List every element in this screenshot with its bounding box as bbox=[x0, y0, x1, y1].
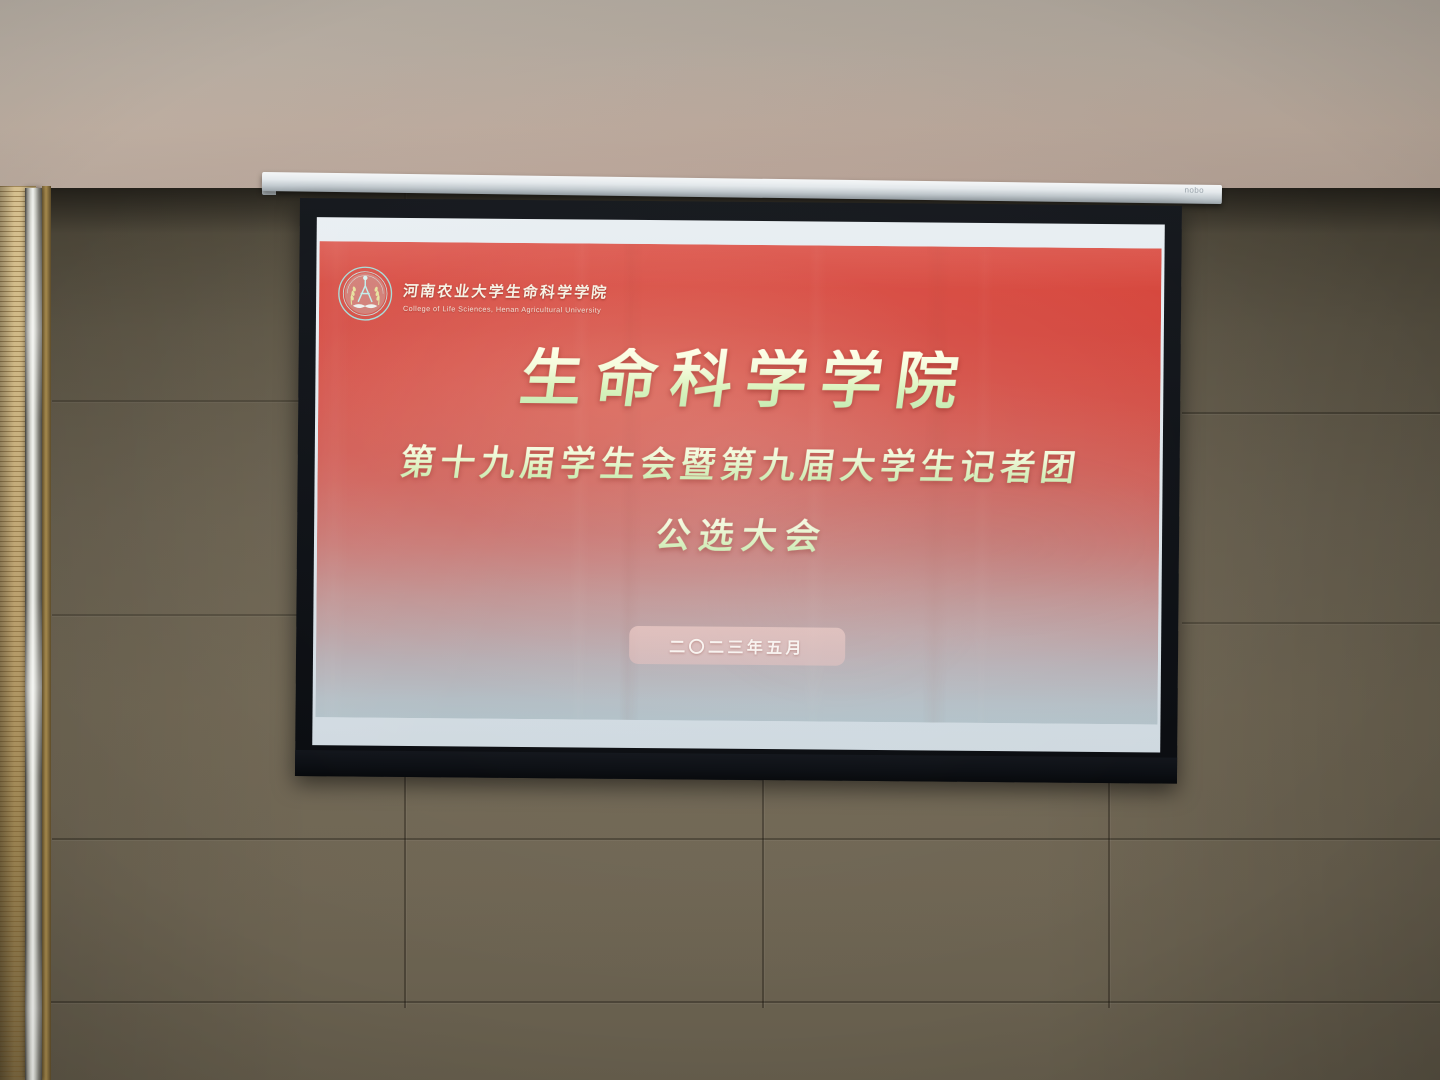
screen-surface: 河南农业大学生命科学学院 College of Life Sciences, H… bbox=[312, 217, 1165, 752]
slide-title-block: 生命科学学院 第十九届学生会暨第九届大学生记者团 公选大会 bbox=[317, 345, 1161, 562]
presentation-slide: 河南农业大学生命科学学院 College of Life Sciences, H… bbox=[315, 241, 1161, 724]
wood-edge-trim bbox=[42, 186, 51, 1080]
institution-name-en: College of Life Sciences, Henan Agricult… bbox=[403, 303, 608, 314]
wall-seam-horizontal bbox=[52, 400, 300, 402]
college-crest-icon bbox=[337, 265, 393, 321]
screen-brand-label: nobo bbox=[1185, 186, 1205, 195]
slide-header: 河南农业大学生命科学学院 College of Life Sciences, H… bbox=[337, 265, 609, 323]
institution-names: 河南农业大学生命科学学院 College of Life Sciences, H… bbox=[403, 275, 609, 314]
wall-seam-vertical bbox=[1108, 770, 1110, 1008]
wall-seam-vertical bbox=[762, 772, 764, 1008]
wall-seam-horizontal bbox=[0, 1001, 1440, 1003]
slide-title-line2: 第十九届学生会暨第九届大学生记者团 bbox=[393, 434, 1085, 491]
institution-name-cn: 河南农业大学生命科学学院 bbox=[402, 279, 610, 302]
meeting-room-photo: nobo bbox=[0, 0, 1440, 1080]
slide-title-line3: 公选大会 bbox=[645, 507, 832, 560]
slide-title-main: 生命科学学院 bbox=[504, 347, 976, 417]
wall-seam-vertical bbox=[404, 776, 406, 1008]
wall-seam-horizontal bbox=[52, 614, 300, 616]
projector-screen[interactable]: 河南农业大学生命科学学院 College of Life Sciences, H… bbox=[295, 198, 1182, 784]
upper-wall bbox=[0, 0, 1440, 205]
wall-seam-horizontal bbox=[52, 838, 1440, 840]
chrome-trim-reflection bbox=[25, 188, 42, 1080]
slide-date-badge: 二〇二三年五月 bbox=[629, 626, 845, 666]
wall-seam-horizontal bbox=[1182, 412, 1440, 414]
wall-seam-horizontal bbox=[1182, 622, 1440, 624]
